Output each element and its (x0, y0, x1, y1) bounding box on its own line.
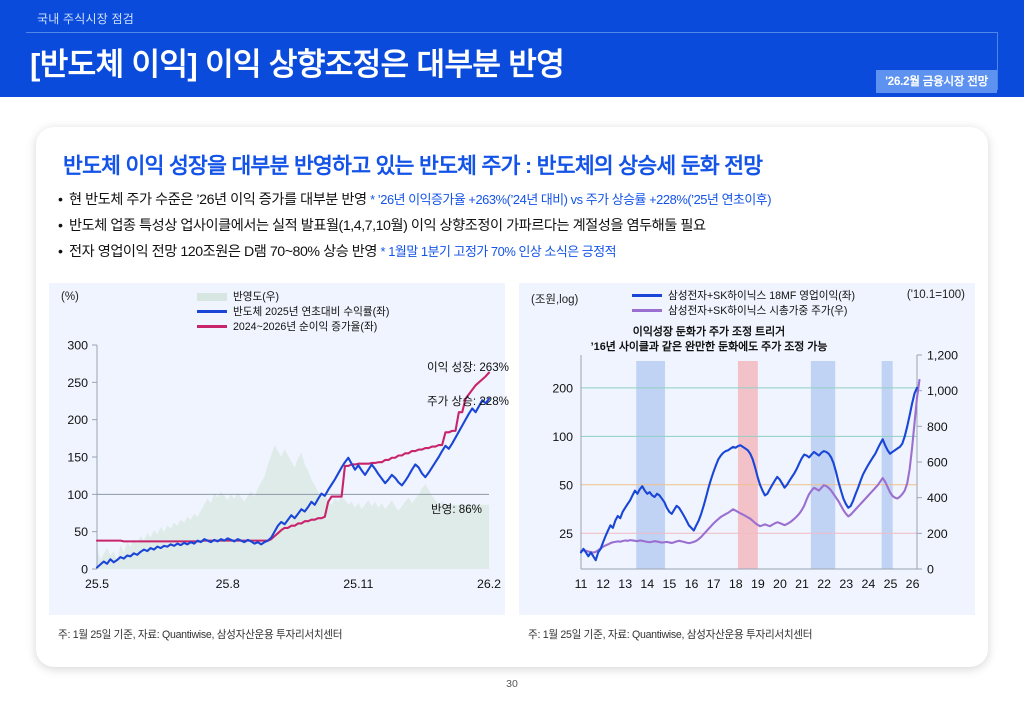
legend-label: 반영도(우) (233, 289, 279, 304)
legend-line-icon (197, 325, 227, 328)
header-divider (26, 32, 998, 33)
legend-line-icon (632, 309, 662, 312)
list-item: • 반도체 업종 특성상 업사이클에서는 실적 발표월(1,4,7,10월) 이… (58, 213, 978, 239)
left-chart-unit-label: (%) (61, 291, 79, 303)
svg-text:18: 18 (729, 577, 743, 591)
legend-entry: 반영도(우) (197, 289, 389, 304)
bullet-dot: • (58, 192, 63, 208)
legend-line-icon (632, 294, 662, 297)
svg-text:200: 200 (927, 527, 948, 541)
svg-text:100: 100 (67, 488, 88, 502)
right-chart-callout: 이익성장 둔화가 주가 조정 트리거’16년 사이클과 같은 완만한 둔화에도 … (519, 325, 899, 355)
svg-text:11: 11 (575, 577, 588, 591)
legend-label: 삼성전자+SK하이닉스 시총가중 주가(우) (668, 303, 847, 318)
right-chart-legend: 삼성전자+SK하이닉스 18MF 영업이익(좌) 삼성전자+SK하이닉스 시총가… (632, 288, 855, 318)
legend-label: 2024~2026년 순이익 증가율(좌) (233, 319, 377, 334)
content-card: 반도체 이익 성장을 대부분 반영하고 있는 반도체 주가 : 반도체의 상승세… (36, 127, 988, 667)
svg-text:26: 26 (906, 577, 920, 591)
list-item: • 전자 영업이익 전망 120조원은 D램 70~80% 상승 반영 * 1월… (58, 239, 978, 265)
svg-text:20: 20 (773, 577, 787, 591)
svg-text:15: 15 (663, 577, 677, 591)
legend-swatch-area-icon (197, 293, 227, 301)
svg-text:50: 50 (559, 478, 573, 492)
svg-text:24: 24 (861, 577, 875, 591)
chart-panel-right: (조원,log) ('10.1=100) 삼성전자+SK하이닉스 18MF 영업… (519, 283, 975, 615)
svg-text:17: 17 (707, 577, 721, 591)
bullet-list: • 현 반도체 주가 수준은 ’26년 이익 증가를 대부분 반영 * ’26년… (58, 187, 978, 265)
svg-text:800: 800 (927, 420, 948, 434)
header-divider-vertical (997, 32, 998, 90)
right-chart-unit-label: (조원,log) (531, 291, 578, 307)
bullet-dot: • (58, 244, 63, 260)
legend-entry: 삼성전자+SK하이닉스 18MF 영업이익(좌) (632, 288, 855, 303)
callout-line: ’16년 사이클과 같은 완만한 둔화에도 주가 조정 가능 (519, 340, 899, 355)
page-title: [반도체 이익] 이익 상향조정은 대부분 반영 (30, 39, 564, 84)
svg-text:14: 14 (640, 577, 654, 591)
svg-text:13: 13 (618, 577, 632, 591)
bullet-highlight: * 1월말 1분기 고정가 70% 인상 소식은 긍정적 (381, 244, 617, 259)
svg-text:25: 25 (559, 527, 573, 541)
svg-text:26.2: 26.2 (477, 577, 501, 591)
svg-text:21: 21 (795, 577, 809, 591)
svg-text:250: 250 (67, 376, 88, 390)
bullet-text: 반도체 업종 특성상 업사이클에서는 실적 발표월(1,4,7,10월) 이익 … (69, 218, 706, 234)
bullet-highlight: * ’26년 이익증가율 +263%(’24년 대비) vs 주가 상승률 +2… (370, 192, 771, 207)
svg-text:600: 600 (927, 456, 948, 470)
page-number: 30 (0, 678, 1024, 690)
svg-text:100: 100 (552, 430, 573, 444)
list-item: • 현 반도체 주가 수준은 ’26년 이익 증가를 대부분 반영 * ’26년… (58, 187, 978, 213)
svg-text:200: 200 (552, 381, 573, 395)
svg-text:1,000: 1,000 (927, 384, 958, 398)
callout-line: 이익성장 둔화가 주가 조정 트리거 (519, 325, 899, 340)
svg-text:200: 200 (67, 413, 88, 427)
svg-text:400: 400 (927, 491, 948, 505)
svg-text:16: 16 (685, 577, 699, 591)
left-chart-legend: 반영도(우) 반도체 2025년 연초대비 수익률(좌) 2024~2026년 … (197, 289, 389, 334)
legend-label: 삼성전자+SK하이닉스 18MF 영업이익(좌) (668, 288, 855, 303)
legend-entry: 반도체 2025년 연초대비 수익률(좌) (197, 304, 389, 319)
legend-label: 반도체 2025년 연초대비 수익률(좌) (233, 304, 389, 319)
svg-text:19: 19 (751, 577, 765, 591)
svg-text:50: 50 (74, 525, 88, 539)
legend-entry: 삼성전자+SK하이닉스 시총가중 주가(우) (632, 303, 855, 318)
left-chart-annotation-price: 주가 상승: 228% (427, 393, 509, 409)
svg-text:300: 300 (67, 339, 88, 353)
slide-root: 국내 주식시장 점검 [반도체 이익] 이익 상향조정은 대부분 반영 '26.… (0, 0, 1024, 709)
left-chart-annotation-reflect: 반영: 86% (431, 501, 482, 517)
chart-panel-left: (%) 반영도(우) 반도체 2025년 연초대비 수익률(좌) 2024~20… (49, 283, 505, 615)
svg-text:12: 12 (596, 577, 610, 591)
bullet-text: 현 반도체 주가 수준은 ’26년 이익 증가를 대부분 반영 (69, 192, 367, 208)
svg-text:150: 150 (67, 451, 88, 465)
right-chart-footnote: 주: 1월 25일 기준, 자료: Quantiwise, 삼성자산운용 투자리… (528, 627, 812, 642)
bullet-text: 전자 영업이익 전망 120조원은 D램 70~80% 상승 반영 (69, 244, 377, 260)
right-chart-unit-label-right: ('10.1=100) (907, 289, 965, 301)
left-chart-annotation-earnings: 이익 성장: 263% (427, 359, 509, 375)
svg-text:0: 0 (927, 563, 934, 577)
svg-text:22: 22 (817, 577, 831, 591)
svg-text:25.5: 25.5 (85, 577, 109, 591)
slide-header: 국내 주식시장 점검 [반도체 이익] 이익 상향조정은 대부분 반영 '26.… (0, 0, 1024, 97)
svg-text:23: 23 (839, 577, 853, 591)
svg-text:25.8: 25.8 (216, 577, 240, 591)
bullet-dot: • (58, 218, 63, 234)
svg-text:25.11: 25.11 (343, 577, 373, 591)
card-title: 반도체 이익 성장을 대부분 반영하고 있는 반도체 주가 : 반도체의 상승세… (63, 149, 762, 180)
legend-line-icon (197, 310, 227, 313)
svg-text:25: 25 (884, 577, 898, 591)
svg-text:1,200: 1,200 (927, 349, 958, 363)
header-kicker: 국내 주식시장 점검 (37, 10, 134, 27)
svg-text:0: 0 (81, 563, 88, 577)
status-badge: '26.2월 금융시장 전망 (876, 70, 997, 93)
legend-entry: 2024~2026년 순이익 증가율(좌) (197, 319, 389, 334)
left-chart-footnote: 주: 1월 25일 기준, 자료: Quantiwise, 삼성자산운용 투자리… (58, 627, 342, 642)
